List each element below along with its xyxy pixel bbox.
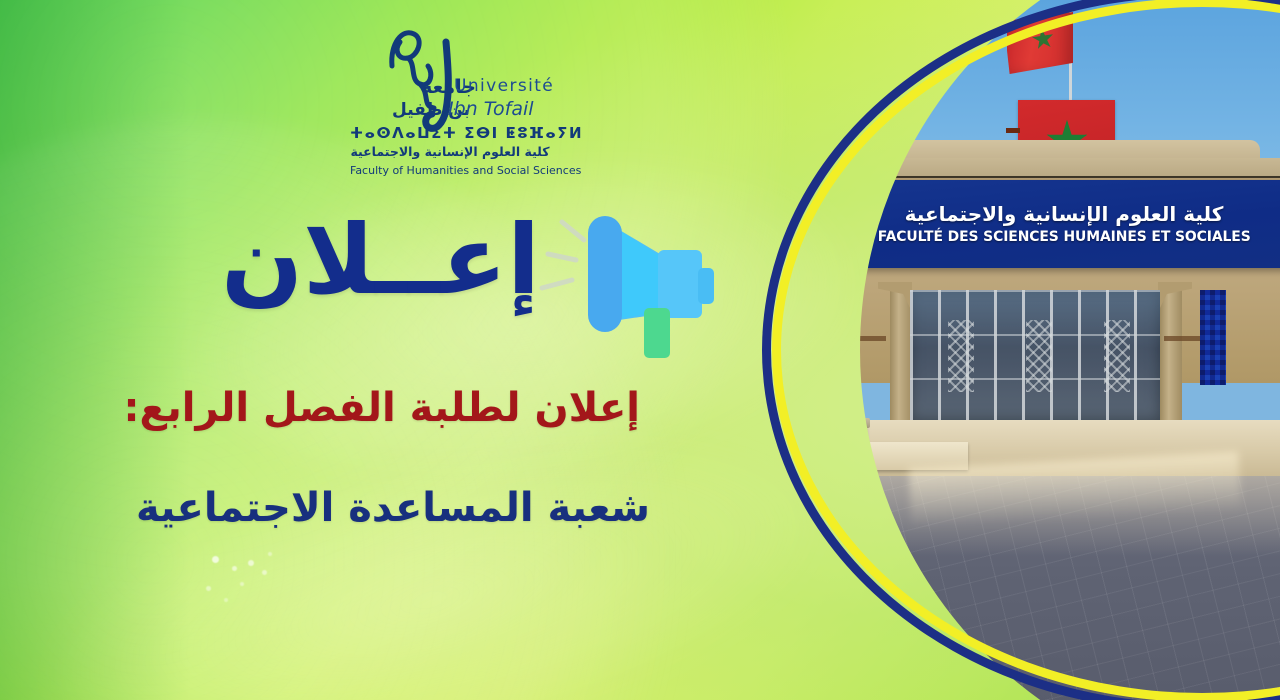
logo-french-university: Université (454, 76, 554, 96)
logo-faculty-english: Faculty of Humanities and Social Science… (350, 164, 550, 177)
bokeh-dot (224, 598, 228, 602)
bokeh-dot (268, 552, 272, 556)
megaphone-icon (536, 196, 726, 366)
subtitle-line-2: شعبة المساعدة الاجتماعية (136, 486, 650, 530)
bokeh-dot (206, 586, 211, 591)
bokeh-dot (212, 556, 219, 563)
announcement-poster: كلية العلوم الإنسانية والاجتماعية FACULT… (0, 0, 1280, 700)
bokeh-dot (262, 570, 267, 575)
subtitle-line-1: إعلان لطلبة الفصل الرابع: (123, 386, 640, 430)
page-title: إعــلان (221, 212, 540, 308)
bokeh-dot (232, 566, 237, 571)
bokeh-dot (240, 582, 244, 586)
university-logo: جامعة Université بن طفيل Ibn Tofail ⵜⴰⵙⴷ… (350, 14, 550, 186)
logo-french-name: Ibn Tofail (448, 98, 534, 120)
logo-tifinagh-name: ⵜⴰⵙⴷⴰⵡⵉⵜ ⵉⴱⵏ ⵟⵓⴼⴰⵢⵍ (350, 124, 550, 142)
bokeh-dot (248, 560, 254, 566)
logo-faculty-arabic: كلية العلوم الإنسانية والاجتماعية (350, 144, 550, 159)
